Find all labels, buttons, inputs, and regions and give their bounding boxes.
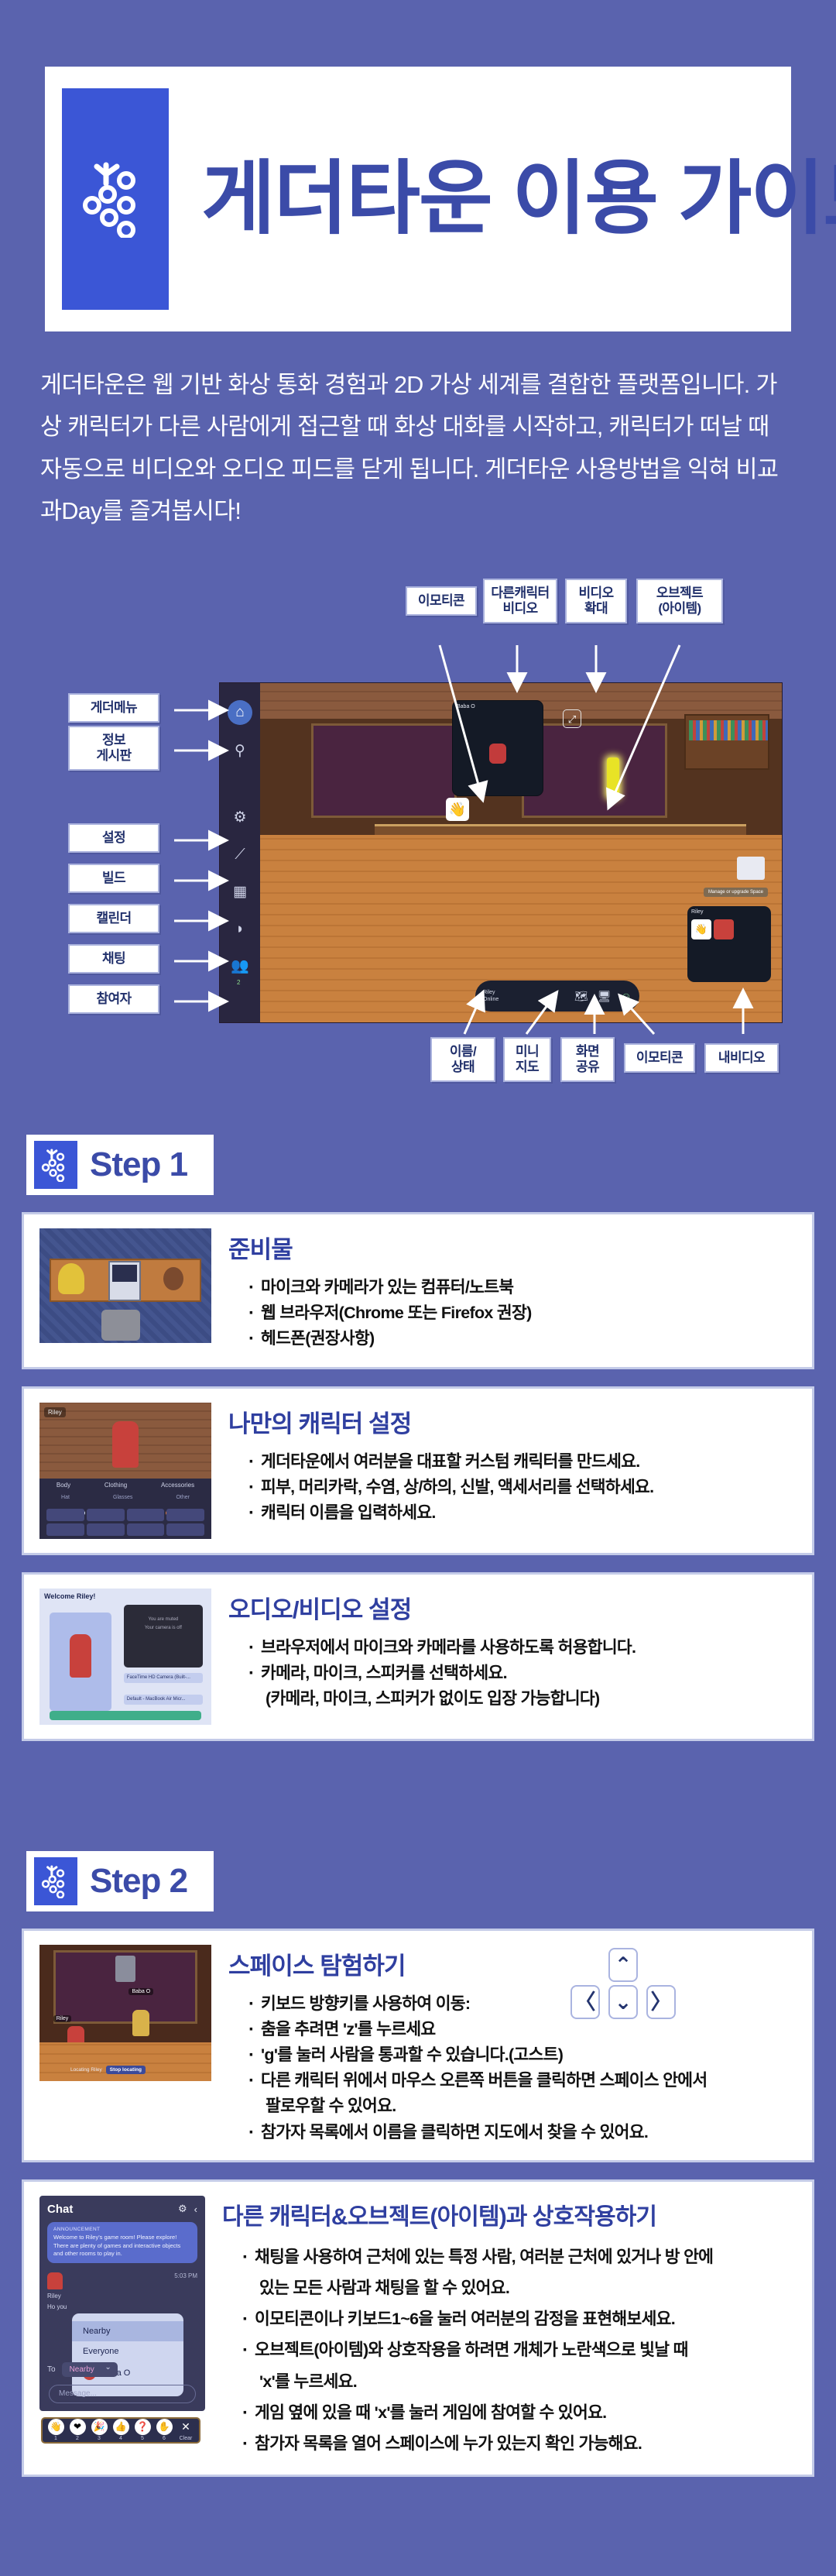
callout-object-item: 오브젝트(아이템) — [636, 579, 723, 623]
arrow-up-key: ⌃ — [608, 1948, 638, 1982]
step-2-label: Step 2 — [90, 1862, 187, 1901]
card-prerequisites: 준비물 마이크와 카메라가 있는 컴퓨터/노트북 웹 브라우저(Chrome 또… — [22, 1212, 814, 1369]
list-item: 'g'를 눌러 사람을 통과할 수 있습니다.(고스트) — [248, 2043, 798, 2067]
callout-calendar: 캘린더 — [68, 904, 159, 933]
gather-sidebar: ⌂ ⚲ ⚙ ⟋ ▦ ◗ 👥 2 — [220, 683, 260, 1022]
message-body: Ho you — [47, 2303, 197, 2311]
bullet-list: 브라우저에서 마이크와 카메라를 사용하도록 허용합니다. 카메라, 마이크, … — [228, 1636, 798, 1712]
my-video-name: Riley — [687, 906, 771, 918]
card-title: 오디오/비디오 설정 — [228, 1590, 411, 1625]
bullet-list: 채팅을 사용하여 근처에 있는 특정 사람, 여러분 근처에 있거나 방 안에 … — [222, 2242, 798, 2459]
chevron-left-icon[interactable]: ‹ — [194, 2203, 197, 2215]
wall-poster — [737, 857, 765, 880]
announcement-label: ANNOUNCEMENT — [53, 2227, 191, 2232]
chat-to-label: To — [47, 2365, 56, 2374]
avatar — [47, 2272, 63, 2289]
gather-screenshot: ⌂ ⚲ ⚙ ⟋ ▦ ◗ 👥 2 Baba O ⤢ 👋 Baba O Riley … — [219, 682, 783, 1023]
list-item: 브라우저에서 마이크와 카메라를 사용하도록 허용합니다. — [248, 1636, 798, 1660]
chat-panel: Chat ⚙ ‹ ANNOUNCEMENT Welcome to Riley's… — [39, 2196, 205, 2411]
toolbar-player-status: Online — [483, 996, 499, 1003]
card-explore-space: Baba O Riley Locating RileyStop locating… — [22, 1929, 814, 2162]
chat-message-row: 5:03 PM — [47, 2272, 197, 2289]
emoji-icon[interactable]: ☺ — [621, 990, 632, 1002]
chat-to-value[interactable]: Nearby — [62, 2362, 118, 2377]
page-description: 게더타운은 웹 기반 화상 통화 경험과 2D 가상 세계를 결합한 플랫폼입니… — [40, 364, 796, 532]
calendar-icon[interactable]: ▦ — [228, 880, 252, 905]
callout-name-status: 이름/상태 — [430, 1037, 495, 1082]
bookshelf — [684, 714, 769, 770]
callout-emoji: 이모티콘 — [406, 586, 477, 616]
list-item: 다른 캐릭터 위에서 마우스 오른쪽 버튼을 클릭하면 스페이스 안에서 — [248, 2069, 798, 2093]
chat-recipient-dropdown[interactable]: Nearby Everyone Baba O — [72, 2313, 183, 2396]
card-title: 스페이스 탐험하기 — [228, 1946, 406, 1981]
desk-setup-thumbnail — [39, 1228, 211, 1343]
hammer-icon[interactable]: ⟋ — [228, 843, 252, 867]
list-item: 참가자 목록에서 이름을 클릭하면 지도에서 찾을 수 있어요. — [248, 2121, 798, 2145]
list-item: 게임 옆에 있을 때 'x'를 눌러 게임에 참여할 수 있어요. — [242, 2398, 798, 2427]
list-item: 웹 브라우저(Chrome 또는 Firefox 권장) — [248, 1301, 798, 1325]
rug-left — [311, 723, 457, 818]
minimap-icon[interactable]: 🗺 — [574, 990, 588, 1003]
callout-emoji-toolbar: 이모티콘 — [624, 1043, 695, 1073]
emoji-key-5[interactable]: ❓5 — [135, 2419, 151, 2441]
emoji-key-6[interactable]: ✋6 — [156, 2419, 173, 2441]
message-sender: Riley — [47, 2292, 197, 2300]
callout-other-character-video: 다른캐릭터비디오 — [483, 579, 557, 623]
list-item: 춤을 추려면 'z'를 누르세요 — [248, 2018, 798, 2042]
dropdown-option-everyone[interactable]: Everyone — [72, 2341, 183, 2361]
list-item: 오브젝트(아이템)와 상호작용을 하려면 개체가 노란색으로 빛날 때 — [242, 2335, 798, 2365]
bullet-list: 마이크와 카메라가 있는 컴퓨터/노트북 웹 브라우저(Chrome 또는 Fi… — [228, 1276, 798, 1352]
callout-chat: 채팅 — [68, 944, 159, 974]
screenshare-icon[interactable]: 🖥 — [598, 990, 612, 1003]
list-item: 참가자 목록을 열어 스페이스에 누가 있는지 확인 가능해요. — [242, 2429, 798, 2458]
gather-bottom-toolbar: Riley Online 🗺 🖥 ☺ — [475, 981, 639, 1012]
callout-my-video: 내비디오 — [704, 1043, 779, 1073]
announcement-text: Welcome to Riley's game room! Please exp… — [53, 2234, 191, 2259]
list-item: (카메라, 마이크, 스피커가 없이도 입장 가능합니다) — [248, 1687, 798, 1711]
list-item: 채팅을 사용하여 근처에 있는 특정 사람, 여러분 근처에 있거나 방 안에 — [242, 2242, 798, 2272]
card-title: 준비물 — [228, 1230, 293, 1265]
explore-space-thumbnail: Baba O Riley Locating RileyStop locating — [39, 1945, 211, 2081]
my-video-emoji: 👋 — [691, 919, 711, 939]
bullet-list: 키보드 방향키를 사용하여 이동: 춤을 추려면 'z'를 누르세요 'g'를 … — [228, 1992, 798, 2145]
video-expand-icon[interactable]: ⤢ — [563, 709, 581, 728]
railing — [375, 824, 746, 835]
message-time: 5:03 PM — [174, 2272, 197, 2279]
emoji-key-4[interactable]: 👍4 — [113, 2419, 129, 2441]
gear-icon[interactable]: ⚙ — [178, 2203, 187, 2215]
emoji-clear-button[interactable]: ✕Clear — [178, 2419, 194, 2441]
emoji-key-2[interactable]: ❤2 — [70, 2419, 86, 2441]
list-item: 카메라, 마이크, 스피커를 선택하세요. — [248, 1661, 798, 1685]
rug-right — [522, 723, 667, 818]
people-icon[interactable]: 👥 — [228, 954, 252, 979]
list-item: 게더타운에서 여러분을 대표할 커스텀 캐릭터를 만드세요. — [248, 1450, 798, 1474]
card-interaction: Chat ⚙ ‹ ANNOUNCEMENT Welcome to Riley's… — [22, 2179, 814, 2477]
emoji-key-1[interactable]: 👋1 — [48, 2419, 64, 2441]
gather-grapes-logo-icon — [34, 1141, 77, 1189]
step-1-label: Step 1 — [90, 1145, 187, 1184]
card-character-setup: Riley BodyClothingAccessories HatGlasses… — [22, 1386, 814, 1555]
annotated-gather-diagram: ⌂ ⚲ ⚙ ⟋ ▦ ◗ 👥 2 Baba O ⤢ 👋 Baba O Riley … — [31, 558, 805, 1054]
dropdown-option-nearby[interactable]: Nearby — [72, 2321, 183, 2341]
step-2-header: Step 2 — [26, 1851, 214, 1911]
pin-icon[interactable]: ⚲ — [228, 739, 252, 764]
my-video-avatar — [714, 919, 734, 939]
gear-icon[interactable]: ⚙ — [228, 805, 252, 830]
page-title-banner: 게더타운 이용 가이드 — [45, 67, 791, 331]
manage-space-tooltip: Manage or upgrade Space — [704, 888, 768, 897]
participant-count: 2 — [237, 979, 240, 986]
chat-bubble-icon[interactable]: ◗ — [228, 917, 252, 942]
callout-gather-menu: 게더메뉴 — [68, 693, 159, 723]
list-item: 마이크와 카메라가 있는 컴퓨터/노트북 — [248, 1276, 798, 1300]
list-item: 'x'를 누르세요. — [242, 2367, 798, 2396]
emoji-shortcut-bar: 👋1 ❤2 🎉3 👍4 ❓5 ✋6 ✕Clear — [41, 2417, 200, 2444]
page-title: 게더타운 이용 가이드 — [201, 159, 836, 239]
emoji-key-3[interactable]: 🎉3 — [91, 2419, 108, 2441]
emoji-bubble-icon: 👋 — [446, 798, 469, 821]
list-item: 있는 모든 사람과 채팅을 할 수 있어요. — [242, 2273, 798, 2303]
gather-grapes-logo-icon — [34, 1857, 77, 1905]
toolbar-player-name: Riley — [483, 989, 499, 996]
callout-minimap: 미니지도 — [503, 1037, 551, 1082]
card-av-settings: Welcome Riley! You are mutedYour camera … — [22, 1572, 814, 1741]
my-video-tile[interactable]: Riley 👋 — [687, 906, 771, 982]
bullet-list: 게더타운에서 여러분을 대표할 커스텀 캐릭터를 만드세요. 피부, 머리카락,… — [228, 1450, 798, 1526]
list-item: 캐릭터 이름을 입력하세요. — [248, 1501, 798, 1525]
card-title: 나만의 캐릭터 설정 — [228, 1404, 411, 1439]
name-status-block[interactable]: Riley Online — [483, 989, 499, 1004]
list-item: 이모티콘이나 키보드1~6을 눌러 여러분의 감정을 표현해보세요. — [242, 2304, 798, 2334]
callout-build: 빌드 — [68, 864, 159, 893]
callout-screenshare: 화면공유 — [560, 1037, 615, 1082]
announcement-bubble: ANNOUNCEMENT Welcome to Riley's game roo… — [47, 2222, 197, 2264]
callout-video-enlarge: 비디오확대 — [565, 579, 627, 623]
callout-info-board: 정보게시판 — [68, 726, 159, 771]
interactive-object-highlight[interactable] — [607, 757, 619, 798]
avatar — [489, 744, 506, 764]
home-icon[interactable]: ⌂ — [228, 700, 252, 725]
av-settings-thumbnail: Welcome Riley! You are mutedYour camera … — [39, 1589, 211, 1725]
list-item: 키보드 방향키를 사용하여 이동: — [248, 1992, 798, 2016]
list-item: 피부, 머리카락, 수염, 상/하의, 신발, 액세서리를 선택하세요. — [248, 1475, 798, 1499]
chat-to-row[interactable]: To Nearby — [47, 2362, 118, 2377]
other-character-video-tile[interactable]: Baba O — [452, 700, 543, 796]
chat-panel-thumbnail: Chat ⚙ ‹ ANNOUNCEMENT Welcome to Riley's… — [39, 2196, 205, 2445]
chat-message-input[interactable]: Message... — [49, 2385, 196, 2403]
card-title: 다른 캐릭터&오브젝트(아이템)과 상호작용하기 — [222, 2197, 656, 2231]
callout-participants: 참여자 — [68, 984, 159, 1014]
list-item: 팔로우할 수 있어요. — [248, 2094, 798, 2118]
list-item: 헤드폰(권장사항) — [248, 1327, 798, 1351]
avatar-editor-thumbnail: Riley BodyClothingAccessories HatGlasses… — [39, 1403, 211, 1539]
other-player-name: Baba O — [453, 701, 543, 713]
step-1-header: Step 1 — [26, 1135, 214, 1195]
chat-title: Chat — [47, 2203, 171, 2216]
callout-settings: 설정 — [68, 823, 159, 853]
gather-grapes-logo-icon — [62, 88, 169, 310]
